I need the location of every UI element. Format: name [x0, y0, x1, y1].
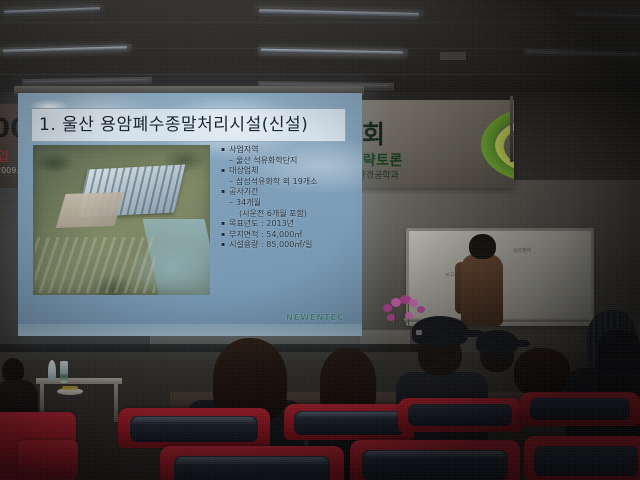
bullet-item: 대상업체	[219, 166, 345, 177]
presentation-slide: 1. 울산 용암폐수종말처리시설(신설) 사업지역 울산 석유화학단지 대상업체…	[26, 104, 352, 326]
slide-title: 1. 울산 용암폐수종말처리시설(신설)	[32, 117, 308, 134]
orchid-bloom	[405, 312, 413, 319]
person-loose-hair-right	[514, 348, 570, 396]
auditorium-seat-highlight	[296, 412, 402, 421]
bullet-item: 울산 석유화학단지	[219, 156, 345, 167]
banner-left-line2: 업	[0, 146, 9, 165]
photo-building	[56, 192, 124, 228]
snack	[62, 386, 78, 390]
auditorium-seat-back	[408, 404, 512, 426]
slide-footer-band	[18, 324, 362, 336]
slide-bullet-list: 사업지역 울산 석유화학단지 대상업체 삼성석유화학 외 19개소 공사기간 3…	[219, 145, 345, 251]
presenter-head	[469, 234, 496, 259]
slide-aerial-photo	[33, 145, 210, 295]
water-bottle	[60, 361, 68, 383]
bullet-item: 시설용량 : 85,000㎡/일	[219, 240, 345, 251]
photo-road	[35, 237, 155, 293]
ceiling-spotlight	[436, 86, 454, 91]
person-dark-jacket-far-right	[598, 330, 640, 450]
ceiling-spotlight	[487, 22, 505, 27]
slide-title-box: 1. 울산 용암폐수종말처리시설(신설)	[31, 108, 346, 142]
whiteboard-note-right: 요약정리	[513, 247, 532, 255]
water-bottle	[48, 360, 56, 382]
ceiling	[0, 0, 640, 96]
newentec-logo: NEWENTEC	[286, 313, 344, 322]
cap-brim-icon	[512, 340, 530, 347]
screenshot-root: 00 업 2009. 수회 공전략토론 학교 환경공학과 1. 울산 용암폐수종…	[0, 0, 640, 480]
ceiling-spotlight	[190, 52, 208, 57]
cap-logo-icon	[416, 330, 422, 335]
orchid-bloom	[409, 299, 418, 307]
banner-left-line3: 2009.	[0, 166, 19, 175]
bullet-item: 부지면적 : 54,000㎡	[219, 230, 345, 241]
bullet-item: 34개월	[219, 198, 345, 209]
bullet-item: (시운전 6개월 포함)	[219, 209, 345, 220]
bullet-item: 사업지역	[219, 145, 345, 156]
projection-screen: 1. 울산 용암폐수종말처리시설(신설) 사업지역 울산 석유화학단지 대상업체…	[18, 93, 362, 336]
auditorium-seat-highlight	[364, 451, 506, 461]
banner-pole	[510, 96, 513, 162]
orchid-bloom	[417, 306, 425, 313]
bullet-item: 목표년도 : 2013년	[219, 219, 345, 230]
banner-swoosh-graphic	[408, 104, 514, 182]
auditorium-seat-back	[534, 446, 638, 476]
auditorium-seat-armrest	[18, 440, 78, 480]
presenter-body	[461, 254, 503, 326]
ceiling-spotlight	[174, 15, 192, 20]
ceiling-projector-mount	[440, 52, 466, 60]
bullet-item: 공사기간	[219, 187, 345, 198]
auditorium-seat-highlight	[132, 417, 256, 427]
auditorium-seat-highlight	[176, 457, 328, 468]
bullet-item: 삼성석유화학 외 19개소	[219, 177, 345, 188]
orchid-bloom	[387, 314, 395, 321]
auditorium-seat-back	[530, 398, 630, 420]
orchid-bloom	[383, 304, 392, 312]
